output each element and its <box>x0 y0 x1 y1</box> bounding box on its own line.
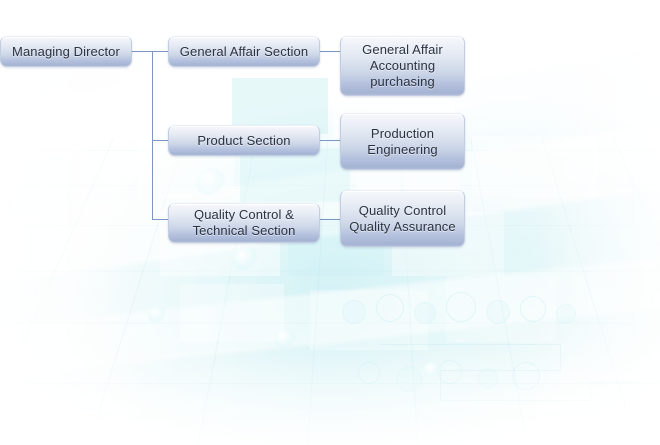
connector-general-affair-to-functions <box>320 51 340 52</box>
connector-product-to-functions <box>320 140 340 141</box>
connector-trunk-to-quality-section <box>152 219 168 220</box>
connector-quality-to-functions <box>320 219 340 220</box>
node-general-affair-section[interactable]: General Affair Section <box>168 36 320 67</box>
background-circle-pattern <box>330 270 660 420</box>
connector-root-to-trunk <box>132 51 168 52</box>
node-quality-functions[interactable]: Quality Control Quality Assurance <box>340 190 465 247</box>
node-quality-control-technical-section[interactable]: Quality Control & Technical Section <box>168 203 320 243</box>
node-managing-director[interactable]: Managing Director <box>0 36 132 67</box>
node-production-functions[interactable]: Production Engineering <box>340 113 465 170</box>
connector-trunk-vertical <box>152 51 153 220</box>
node-product-section[interactable]: Product Section <box>168 125 320 156</box>
background-perspective-grid <box>0 139 660 445</box>
node-general-affair-functions[interactable]: General Affair Accounting purchasing <box>340 36 465 96</box>
background-circuit-traces <box>380 330 660 440</box>
org-chart-canvas: Managing Director General Affair Section… <box>0 0 660 445</box>
connector-trunk-to-product-section <box>152 140 168 141</box>
